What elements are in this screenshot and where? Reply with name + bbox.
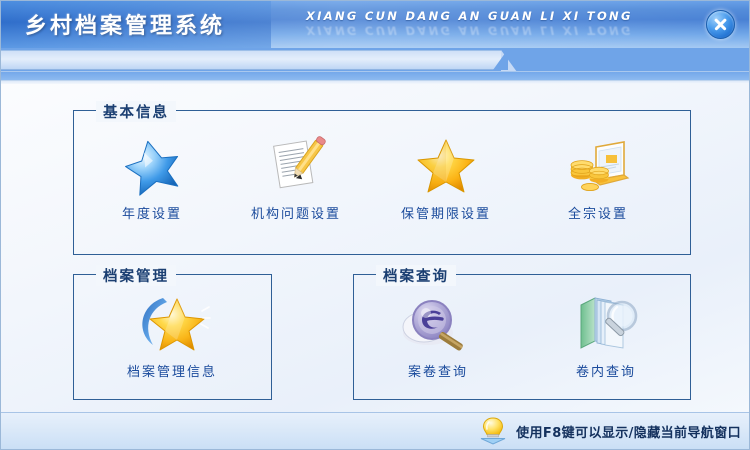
book-magnifier-icon	[544, 293, 668, 355]
tile-label: 年度设置	[90, 203, 214, 222]
tile-label: 全宗设置	[536, 203, 660, 222]
tile-retention-period-setting[interactable]: 保管期限设置	[384, 135, 508, 222]
lightbulb-icon	[478, 417, 508, 445]
document-pencil-icon	[234, 135, 358, 197]
group-archive-query: 档案查询	[353, 274, 691, 400]
toolbar-band-stripe	[1, 71, 750, 80]
gold-star-icon	[384, 135, 508, 197]
tile-archive-management-info[interactable]: 档案管理信息	[110, 293, 234, 380]
group-archive-management: 档案管理	[73, 274, 272, 400]
tile-label: 机构问题设置	[234, 203, 358, 222]
app-subtitle-reflection: XIANG CUN DANG AN GUAN LI XI TONG	[306, 24, 633, 36]
group-basic-info-title: 基本信息	[96, 101, 176, 122]
coins-laptop-icon	[536, 135, 660, 197]
tile-label: 档案管理信息	[110, 361, 234, 380]
title-bar: 乡村档案管理系统 XIANG CUN DANG AN GUAN LI XI TO…	[1, 1, 750, 48]
blue-star-icon	[90, 135, 214, 197]
status-bar: 使用F8键可以显示/隐藏当前导航窗口	[1, 412, 750, 449]
app-window: 乡村档案管理系统 XIANG CUN DANG AN GUAN LI XI TO…	[0, 0, 750, 450]
status-bar-content: 使用F8键可以显示/隐藏当前导航窗口	[478, 417, 741, 445]
page-title: 乡村档案管理系统	[25, 8, 225, 40]
status-bar-text: 使用F8键可以显示/隐藏当前导航窗口	[516, 422, 741, 441]
app-subtitle-block: XIANG CUN DANG AN GUAN LI XI TONG XIANG …	[306, 11, 633, 35]
close-icon[interactable]	[706, 10, 735, 39]
main-content: 基本信息	[1, 84, 750, 414]
tile-org-question-setting[interactable]: 机构问题设置	[234, 135, 358, 222]
app-subtitle: XIANG CUN DANG AN GUAN LI XI TONG	[306, 11, 633, 23]
tile-case-file-query[interactable]: 案卷查询	[376, 293, 500, 380]
tile-in-file-query[interactable]: 卷内查询	[544, 293, 668, 380]
tile-fonds-setting[interactable]: 全宗设置	[536, 135, 660, 222]
tile-label: 卷内查询	[544, 361, 668, 380]
group-archive-management-title: 档案管理	[96, 265, 176, 286]
e-magnifier-icon	[376, 293, 500, 355]
toolbar-band-diagonal	[493, 49, 508, 70]
tile-label: 案卷查询	[376, 361, 500, 380]
toolbar-band	[1, 48, 750, 84]
group-basic-info: 基本信息	[73, 110, 691, 255]
star-swoosh-icon	[110, 293, 234, 355]
group-archive-query-title: 档案查询	[376, 265, 456, 286]
toolbar-band-panel	[1, 50, 501, 70]
tile-label: 保管期限设置	[384, 203, 508, 222]
tile-year-setting[interactable]: 年度设置	[90, 135, 214, 222]
